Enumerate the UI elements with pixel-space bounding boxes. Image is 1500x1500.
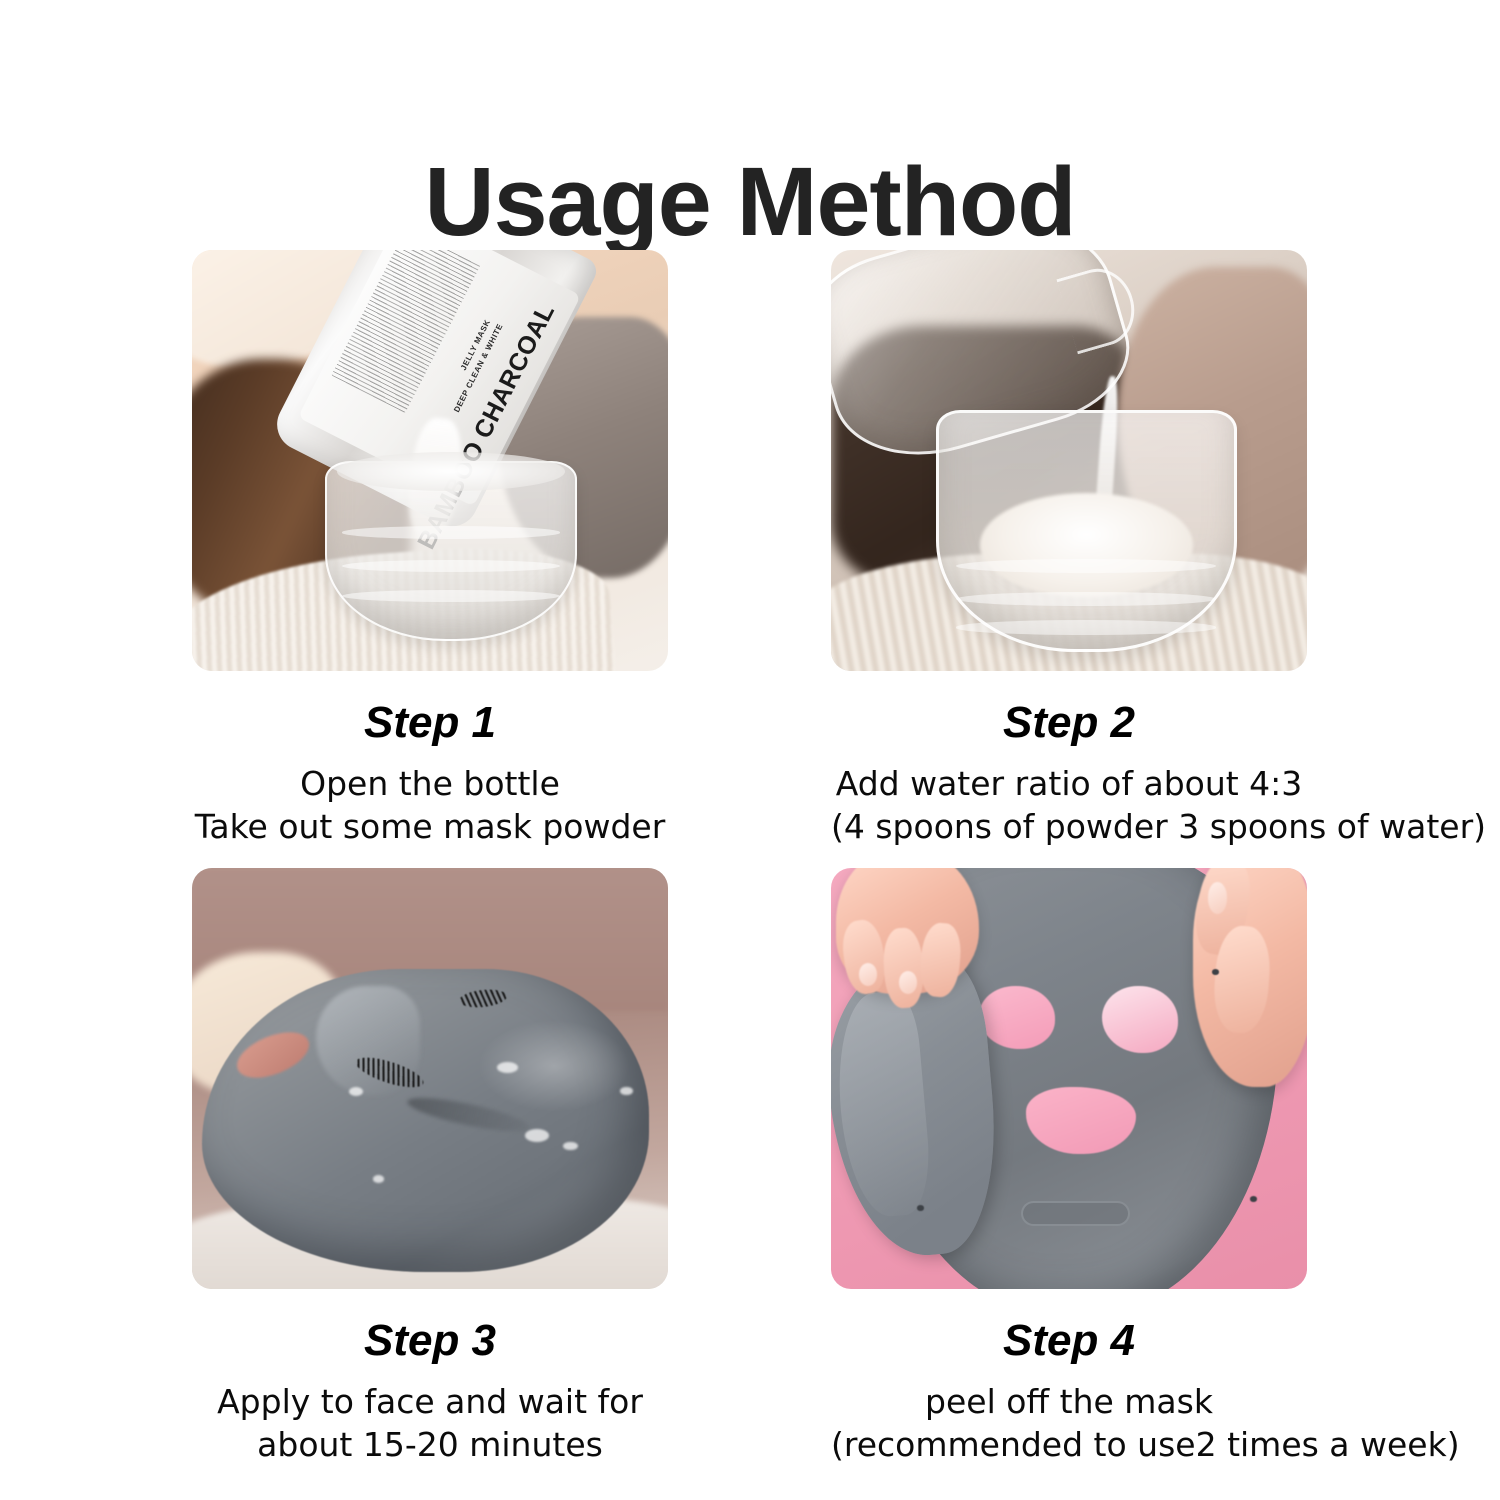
- mask-fleck: [525, 1129, 549, 1142]
- masked-face: [202, 969, 649, 1272]
- step-2-label: Step 2: [831, 701, 1307, 745]
- step-card-3: Step 3 Apply to face and wait for about …: [192, 868, 668, 1467]
- mask-chin-slit: [1021, 1201, 1130, 1226]
- bowl-ring: [956, 592, 1216, 606]
- step-3-photo: [192, 868, 668, 1289]
- mask-speck: [917, 1205, 925, 1211]
- step-2-description-line-2: (4 spoons of powder 3 spoons of water): [831, 806, 1307, 849]
- step-3-description-line-1: Apply to face and wait for: [192, 1381, 668, 1424]
- peeled-mask-flap: [831, 954, 1005, 1262]
- step-2-description-line-1: Add water ratio of about 4:3: [831, 763, 1307, 806]
- mask-fleck: [563, 1142, 577, 1150]
- step-1-photo: BAMBOO CHARCOAL DEEP CLEAN & WHITE JELLY…: [192, 250, 668, 671]
- step-3-description-line-2: about 15-20 minutes: [192, 1424, 668, 1467]
- glass-bowl: [325, 461, 577, 642]
- page-title: Usage Method: [0, 151, 1500, 253]
- fingernail: [1208, 882, 1228, 914]
- step-4-description: peel off the mask (recommended to use2 t…: [831, 1381, 1307, 1467]
- step-3-description: Apply to face and wait for about 15-20 m…: [192, 1381, 668, 1467]
- mask-fleck: [497, 1062, 518, 1073]
- glass-bowl: [936, 410, 1237, 652]
- step-1-description: Open the bottle Take out some mask powde…: [192, 763, 668, 849]
- step-4-photo: [831, 868, 1307, 1289]
- infographic-page: Usage Method BAMBOO CHARCOAL DEEP CLEAN …: [0, 0, 1500, 1500]
- bowl-ring: [342, 560, 560, 572]
- mask-speck: [1250, 1196, 1258, 1202]
- step-card-1: BAMBOO CHARCOAL DEEP CLEAN & WHITE JELLY…: [192, 250, 668, 849]
- mask-fleck: [373, 1175, 384, 1183]
- mask-fleck: [620, 1087, 632, 1095]
- step-1-label: Step 1: [192, 701, 668, 745]
- bowl-ring: [342, 526, 560, 538]
- step-1-description-line-2: Take out some mask powder: [192, 806, 668, 849]
- bowl-ring: [342, 590, 560, 602]
- left-hand: [836, 868, 979, 994]
- step-3-label: Step 3: [192, 1319, 668, 1363]
- step-4-description-line-1: peel off the mask: [831, 1381, 1307, 1424]
- step-1-description-line-1: Open the bottle: [192, 763, 668, 806]
- step-card-2: Step 2 Add water ratio of about 4:3 (4 s…: [831, 250, 1307, 849]
- step-2-description: Add water ratio of about 4:3 (4 spoons o…: [831, 763, 1307, 849]
- mask-eye-opening: [1102, 986, 1178, 1053]
- fingernail: [859, 963, 878, 986]
- step-4-label: Step 4: [831, 1319, 1307, 1363]
- mask-powder: [980, 493, 1192, 597]
- step-2-photo: [831, 250, 1307, 671]
- step-4-description-line-2: (recommended to use2 times a week): [831, 1424, 1307, 1467]
- step-card-4: Step 4 peel off the mask (recommended to…: [831, 868, 1307, 1467]
- bowl-ring: [956, 620, 1216, 634]
